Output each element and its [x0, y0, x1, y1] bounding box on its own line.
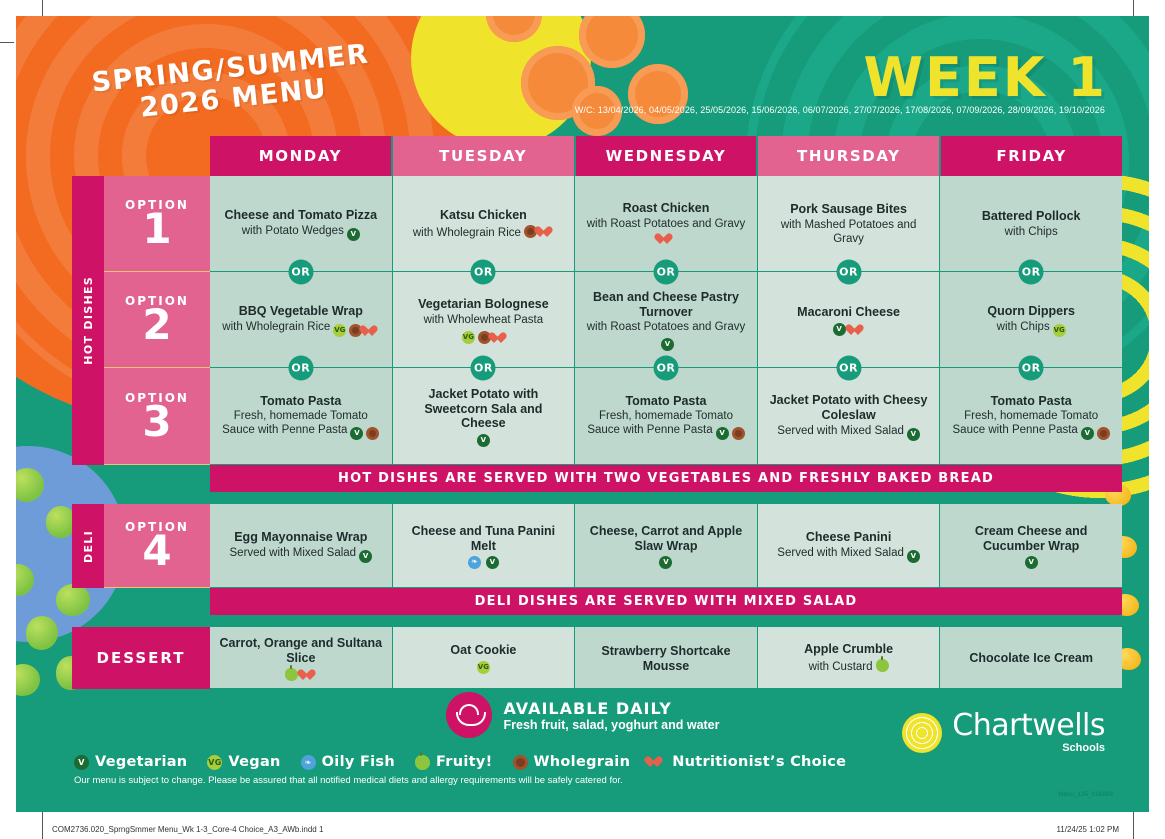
menu-cell[interactable]: ORBean and Cheese Pastry Turnoverwith Ro…: [575, 272, 758, 368]
legend-item-fruity: Fruity!: [415, 754, 493, 770]
menu-cell[interactable]: Cheese PaniniServed with Mixed SaladV: [758, 504, 941, 588]
legend-label: Fruity!: [436, 754, 493, 770]
menu-cell[interactable]: ORTomato PastaFresh, homemade Tomato Sau…: [210, 368, 393, 465]
pea-icon: [16, 664, 40, 696]
nutritionists-choice-icon: [494, 331, 508, 344]
menu-row-option-2: OPTION2ORBBQ Vegetable Wrapwith Wholegra…: [104, 272, 1122, 368]
dish-name: Cheese and Tomato Pizza: [225, 208, 378, 223]
brand-sub: Schools: [952, 742, 1105, 754]
legend-label: Wholegrain: [534, 754, 631, 770]
dish-description: Served with Mixed SaladV: [230, 547, 373, 563]
vegan-icon: VG: [207, 755, 222, 770]
dish-description: with Chips: [1005, 226, 1058, 240]
menu-poster: SPRING/SUMMER 2026 MENU WEEK 1 W/C: 13/0…: [16, 16, 1149, 812]
pea-icon: [16, 564, 34, 596]
dish-description: with Wholegrain Rice: [413, 225, 554, 241]
option-label-4: OPTION4: [104, 504, 210, 588]
vegan-icon: VG: [477, 661, 490, 674]
option-number: 3: [142, 403, 171, 442]
vegetarian-icon: V: [477, 434, 490, 447]
legend-item-nutritionists-choice: Nutritionist’s Choice: [650, 754, 846, 770]
deli-block: DELIOPTION4Egg Mayonnaise WrapServed wit…: [72, 504, 1122, 588]
or-badge: OR: [836, 260, 861, 285]
dish-description: Served with Mixed SaladV: [777, 425, 920, 441]
or-badge: OR: [653, 356, 678, 381]
dish-description: Fresh, homemade Tomato Sauce with Penne …: [948, 410, 1114, 440]
pea-icon: [26, 616, 58, 650]
legend-item-oily-fish: ❧Oily Fish: [301, 754, 395, 770]
wholegrain-icon: [513, 755, 528, 770]
vegan-icon: VG: [1053, 324, 1066, 337]
dietary-icons: V: [1081, 427, 1110, 440]
or-badge: OR: [288, 356, 313, 381]
menu-cell[interactable]: Battered Pollockwith Chips: [940, 176, 1122, 272]
dish-name: Oat Cookie: [450, 643, 516, 658]
option-label-3: OPTION3: [104, 368, 210, 465]
dish-name: Cheese Panini: [806, 530, 891, 545]
dish-description: with ChipsVG: [997, 321, 1066, 337]
carrot-slice-icon: [579, 16, 645, 68]
yellow-circle-decoration: [411, 16, 591, 148]
menu-cell[interactable]: Pork Sausage Biteswith Mashed Potatoes a…: [758, 176, 941, 272]
nutritionists-choice-icon: [650, 755, 666, 770]
legend-label: Vegan: [228, 754, 280, 770]
brand-name: Chartwells: [952, 711, 1105, 741]
menu-cell[interactable]: Cheese and Tomato Pizzawith Potato Wedge…: [210, 176, 393, 272]
vegetarian-icon: V: [907, 428, 920, 441]
day-header-wednesday: WEDNESDAY: [576, 136, 759, 176]
menu-cell[interactable]: Egg Mayonnaise WrapServed with Mixed Sal…: [210, 504, 393, 588]
option-number: 1: [142, 210, 171, 249]
dietary-icons: V: [347, 228, 360, 241]
print-file-name: COM2736.020_SprngSmmer Menu_Wk 1-3_Core-…: [52, 825, 323, 834]
dish-description: with Custard: [809, 659, 889, 675]
or-badge: OR: [1019, 260, 1044, 285]
day-header-tuesday: TUESDAY: [393, 136, 576, 176]
nutritionists-choice-icon: [303, 668, 317, 681]
hot-dishes-section: HOT DISHESOPTION1Cheese and Tomato Pizza…: [72, 176, 1122, 465]
print-timestamp: 11/24/25 1:02 PM: [1056, 825, 1119, 834]
dish-name: Tomato Pasta: [260, 394, 341, 409]
fruity-apple-icon: [415, 755, 430, 770]
dish-name: Chocolate Ice Cream: [969, 651, 1093, 666]
chartwells-mark-icon: [902, 713, 942, 753]
spacer: [72, 492, 1122, 504]
salad-bowl-icon: [445, 692, 491, 738]
dish-description: Fresh, homemade Tomato Sauce with Penne …: [218, 410, 384, 440]
dish-name: Carrot, Orange and Sultana Slice: [218, 636, 384, 666]
crop-mark: [42, 812, 43, 839]
dietary-icons: V: [833, 323, 865, 336]
crop-mark: [0, 42, 14, 43]
dietary-legend: VVegetarianVGVegan❧Oily FishFruity!Whole…: [74, 754, 846, 770]
available-daily-subtitle: Fresh fruit, salad, yoghurt and water: [503, 718, 719, 732]
dish-description: Served with Mixed SaladV: [777, 547, 920, 563]
dietary-icons: VG: [477, 661, 490, 674]
menu-cell[interactable]: ORJacket Potato with Cheesy ColeslawServ…: [758, 368, 941, 465]
dish-name: Tomato Pasta: [991, 394, 1072, 409]
menu-row-option-1: OPTION1Cheese and Tomato Pizzawith Potat…: [104, 176, 1122, 272]
menu-cell[interactable]: Apple Crumblewith Custard: [758, 627, 941, 689]
menu-cell[interactable]: Roast Chickenwith Roast Potatoes and Gra…: [575, 176, 758, 272]
menu-cell[interactable]: Cheese and Tuna Panini Melt❧V: [393, 504, 576, 588]
dish-description: with Wholewheat PastaVG: [401, 314, 567, 344]
or-badge: OR: [836, 356, 861, 381]
dietary-icons: ❧V: [468, 556, 499, 569]
dish-description: with Wholegrain RiceVG: [222, 321, 379, 337]
poster-title: SPRING/SUMMER 2026 MENU: [70, 37, 395, 131]
dish-name: Battered Pollock: [982, 209, 1081, 224]
menu-code: Menu_135_016883: [1058, 792, 1113, 798]
dietary-icons: [660, 232, 674, 245]
category-label-dessert: DESSERT: [72, 627, 210, 689]
dish-description: Fresh, homemade Tomato Sauce with Penne …: [583, 410, 749, 440]
dish-name: Vegetarian Bolognese: [418, 297, 549, 312]
or-badge: OR: [471, 260, 496, 285]
menu-cell[interactable]: ORBBQ Vegetable Wrapwith Wholegrain Rice…: [210, 272, 393, 368]
menu-cell[interactable]: ORJacket Potato with Sweetcorn Sala and …: [393, 368, 576, 465]
carrot-slice-icon: [486, 16, 542, 42]
dish-name: Roast Chicken: [623, 201, 710, 216]
menu-cell[interactable]: Cheese, Carrot and Apple Slaw WrapV: [575, 504, 758, 588]
day-header-thursday: THURSDAY: [758, 136, 941, 176]
category-label-hot-dishes: HOT DISHES: [72, 176, 104, 465]
dish-name: Cream Cheese and Cucumber Wrap: [948, 524, 1114, 554]
day-header-monday: MONDAY: [210, 136, 393, 176]
dietary-icons: V: [907, 550, 920, 563]
fruity-apple-icon: [285, 668, 298, 681]
dish-name: Strawberry Shortcake Mousse: [583, 644, 749, 674]
category-label-deli: DELI: [72, 504, 104, 588]
dish-name: Cheese, Carrot and Apple Slaw Wrap: [583, 524, 749, 554]
legend-label: Vegetarian: [95, 754, 187, 770]
hot-dishes-banner: HOT DISHES ARE SERVED WITH TWO VEGETABLE…: [210, 465, 1122, 492]
menu-row-option-3: OPTION3ORTomato PastaFresh, homemade Tom…: [104, 368, 1122, 465]
dish-name: Jacket Potato with Cheesy Coleslaw: [766, 393, 932, 423]
option-label-2: OPTION2: [104, 272, 210, 368]
oily-fish-icon: ❧: [468, 556, 481, 569]
dietary-icons: VG: [333, 324, 379, 337]
menu-cell[interactable]: Chocolate Ice Cream: [940, 627, 1122, 689]
dietary-icons: V: [1025, 556, 1038, 569]
or-badge: OR: [653, 260, 678, 285]
vegan-icon: VG: [462, 331, 475, 344]
wholegrain-icon: [1097, 427, 1110, 440]
dish-name: Quorn Dippers: [987, 304, 1075, 319]
menu-row-dessert: DESSERTCarrot, Orange and Sultana SliceO…: [72, 627, 1122, 689]
or-badge: OR: [1019, 356, 1044, 381]
dish-name: Apple Crumble: [804, 642, 893, 657]
menu-cell[interactable]: ORVegetarian Bolognesewith Wholewheat Pa…: [393, 272, 576, 368]
dish-name: Jacket Potato with Sweetcorn Sala and Ch…: [401, 387, 567, 431]
option-number: 2: [142, 306, 171, 345]
legend-item-vegan: VGVegan: [207, 754, 280, 770]
dish-name: Macaroni Cheese: [797, 305, 900, 320]
dish-name: Cheese and Tuna Panini Melt: [401, 524, 567, 554]
menu-cell[interactable]: ORQuorn Dipperswith ChipsVG: [940, 272, 1122, 368]
chartwells-logo: Chartwells Schools: [902, 711, 1105, 754]
dietary-icons: V: [661, 338, 674, 351]
dietary-icons: V: [907, 428, 920, 441]
disclaimer-text: Our menu is subject to change. Please be…: [74, 775, 623, 786]
dish-description: with Roast Potatoes and GravyV: [583, 321, 749, 351]
dietary-icons: [285, 668, 317, 681]
vegetarian-icon: V: [659, 556, 672, 569]
screenshot-root: SPRING/SUMMER 2026 MENU WEEK 1 W/C: 13/0…: [0, 0, 1165, 839]
vegetarian-icon: V: [661, 338, 674, 351]
menu-cell[interactable]: Strawberry Shortcake Mousse: [575, 627, 758, 689]
legend-item-wholegrain: Wholegrain: [513, 754, 631, 770]
dish-name: Bean and Cheese Pastry Turnover: [583, 290, 749, 320]
dish-name: BBQ Vegetable Wrap: [239, 304, 363, 319]
dish-description: with Mashed Potatoes and Gravy: [766, 219, 932, 247]
menu-cell[interactable]: ORTomato PastaFresh, homemade Tomato Sau…: [575, 368, 758, 465]
dish-name: Katsu Chicken: [440, 208, 527, 223]
wholegrain-icon: [366, 427, 379, 440]
nutritionists-choice-icon: [540, 225, 554, 238]
dietary-icons: VG: [462, 331, 508, 344]
menu-cell[interactable]: Carrot, Orange and Sultana Slice: [210, 627, 393, 689]
menu-cell[interactable]: Katsu Chickenwith Wholegrain Rice: [393, 176, 576, 272]
dessert-block: DESSERTCarrot, Orange and Sultana SliceO…: [72, 627, 1122, 689]
dietary-icons: VG: [1053, 324, 1066, 337]
vegetarian-icon: V: [1025, 556, 1038, 569]
vegetarian-icon: V: [1081, 427, 1094, 440]
or-badge: OR: [471, 356, 496, 381]
dietary-icons: [876, 659, 889, 672]
day-header-friday: FRIDAY: [941, 136, 1122, 176]
wholegrain-icon: [732, 427, 745, 440]
dietary-icons: V: [359, 550, 372, 563]
dietary-icons: V: [716, 427, 745, 440]
dish-name: Pork Sausage Bites: [790, 202, 907, 217]
vegan-icon: VG: [333, 324, 346, 337]
carrot-slice-icon: [628, 64, 688, 124]
available-daily-title: AVAILABLE DAILY: [503, 699, 719, 718]
legend-item-vegetarian: VVegetarian: [74, 754, 187, 770]
fruity-apple-icon: [876, 659, 889, 672]
vegetarian-icon: V: [350, 427, 363, 440]
dietary-icons: V: [659, 556, 672, 569]
vegetarian-icon: V: [347, 228, 360, 241]
week-commencing-dates: W/C: 13/04/2026, 04/05/2026, 25/05/2026,…: [575, 105, 1105, 115]
hot-dishes-block: HOT DISHESOPTION1Cheese and Tomato Pizza…: [72, 176, 1122, 465]
vegetarian-icon: V: [74, 755, 89, 770]
legend-label: Oily Fish: [322, 754, 395, 770]
pea-icon: [16, 468, 44, 502]
option-label-1: OPTION1: [104, 176, 210, 272]
spacer: [72, 615, 1122, 627]
dietary-icons: V: [477, 434, 490, 447]
dish-description: with Roast Potatoes and Gravy: [583, 218, 749, 248]
vegetarian-icon: V: [907, 550, 920, 563]
option-number: 4: [142, 532, 171, 571]
crop-mark: [1133, 812, 1134, 839]
nutritionists-choice-icon: [851, 323, 865, 336]
vegetarian-icon: V: [716, 427, 729, 440]
oily-fish-icon: ❧: [301, 755, 316, 770]
day-header-row: MONDAYTUESDAYWEDNESDAYTHURSDAYFRIDAY: [210, 136, 1122, 176]
deli-banner: DELI DISHES ARE SERVED WITH MIXED SALAD: [210, 588, 1122, 615]
vegetarian-icon: V: [486, 556, 499, 569]
menu-grid: MONDAYTUESDAYWEDNESDAYTHURSDAYFRIDAY HOT…: [72, 136, 1122, 689]
menu-cell[interactable]: Cream Cheese and Cucumber WrapV: [940, 504, 1122, 588]
vegetarian-icon: V: [833, 323, 846, 336]
dish-description: with Potato WedgesV: [242, 225, 360, 241]
vegetarian-icon: V: [359, 550, 372, 563]
menu-row-option-4: DELIOPTION4Egg Mayonnaise WrapServed wit…: [72, 504, 1122, 588]
dish-name: Egg Mayonnaise Wrap: [234, 530, 367, 545]
dietary-icons: V: [350, 427, 379, 440]
nutritionists-choice-icon: [365, 324, 379, 337]
dish-name: Tomato Pasta: [625, 394, 706, 409]
available-daily: AVAILABLE DAILY Fresh fruit, salad, yogh…: [445, 692, 719, 738]
menu-cell[interactable]: Oat CookieVG: [393, 627, 576, 689]
menu-cell[interactable]: ORTomato PastaFresh, homemade Tomato Sau…: [940, 368, 1122, 465]
or-badge: OR: [288, 260, 313, 285]
legend-label: Nutritionist’s Choice: [672, 754, 846, 770]
menu-cell[interactable]: ORMacaroni CheeseV: [758, 272, 941, 368]
dietary-icons: [524, 225, 554, 238]
nutritionists-choice-icon: [660, 232, 674, 245]
week-label: WEEK 1: [863, 46, 1107, 109]
